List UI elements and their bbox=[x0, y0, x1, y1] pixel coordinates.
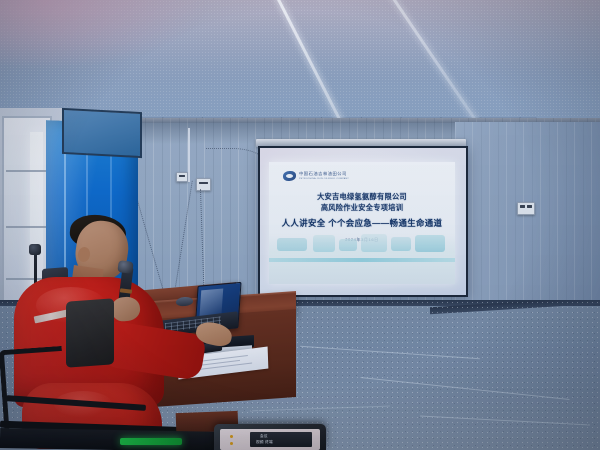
slide-footer-band bbox=[269, 262, 455, 284]
terminal-label-line-2: 视频 终端 bbox=[256, 441, 273, 445]
socket-slot bbox=[527, 205, 532, 208]
logo-company-name-cn: 中国石油吉林油田公司 bbox=[299, 172, 349, 176]
right-wall bbox=[455, 122, 600, 318]
projected-slide: 中国石油吉林油田公司 PETROCHINA JILIN OILFIELD COM… bbox=[269, 162, 455, 284]
slide-slogan: 人人讲安全 个个会应急——畅通生命通道 bbox=[269, 217, 455, 230]
power-socket-plate bbox=[176, 172, 188, 182]
slide-title-line-1: 大安吉电绿氢氨醇有限公司 bbox=[269, 192, 455, 203]
company-logo-icon bbox=[283, 171, 296, 181]
terminal-indicator-icon bbox=[230, 442, 233, 445]
slide-footer-illustration bbox=[269, 232, 455, 258]
training-room-photo: 中国石油吉林油田公司 PETROCHINA JILIN OILFIELD COM… bbox=[0, 0, 600, 450]
terminal-panel: 会议 视频 终端 bbox=[250, 432, 312, 447]
slide-title-line-2: 高风险作业安全专项培训 bbox=[269, 203, 455, 214]
slide-logo: 中国石油吉林油田公司 PETROCHINA JILIN OILFIELD COM… bbox=[283, 171, 349, 181]
logo-text-block: 中国石油吉林油田公司 PETROCHINA JILIN OILFIELD COM… bbox=[299, 172, 349, 179]
office-chair-back[interactable] bbox=[66, 298, 114, 367]
wall-conduit bbox=[188, 128, 190, 182]
ceiling-warm-glow bbox=[0, 0, 210, 70]
video-conference-terminal[interactable]: 会议 视频 终端 bbox=[214, 424, 326, 450]
status-led-strip bbox=[120, 438, 182, 445]
foreground-bar bbox=[0, 428, 230, 450]
terminal-screen: 会议 视频 终端 bbox=[220, 429, 320, 450]
terminal-label-line-1: 会议 bbox=[260, 435, 268, 439]
socket-slot bbox=[179, 175, 185, 177]
wall-panel-lines bbox=[455, 122, 600, 318]
socket-slot bbox=[520, 205, 525, 208]
logo-company-name-en: PETROCHINA JILIN OILFIELD COMPANY bbox=[299, 178, 349, 180]
wall-switch-plate[interactable] bbox=[517, 202, 535, 215]
microphone-head-icon bbox=[117, 260, 133, 274]
projection-screen: 中国石油吉林油田公司 PETROCHINA JILIN OILFIELD COM… bbox=[258, 146, 468, 297]
wall-picture-frame bbox=[62, 108, 142, 158]
terminal-indicator-icon bbox=[230, 435, 233, 438]
